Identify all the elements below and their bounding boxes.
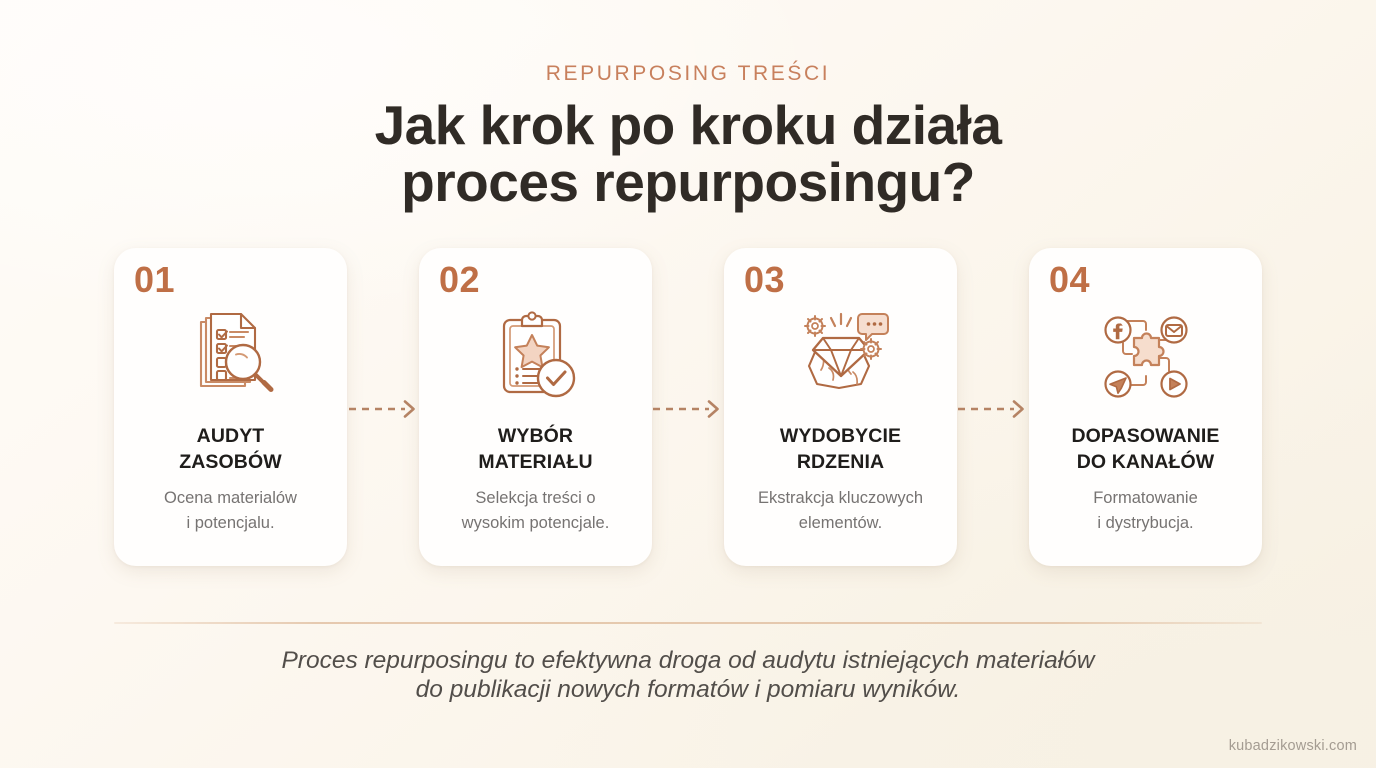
step-title-3-line2: RDZENIA	[797, 451, 884, 473]
page-title: Jak krok po kroku działa proces repurpos…	[0, 97, 1376, 211]
step-desc-2-line1: Selekcja treści o	[475, 489, 595, 507]
step-card-3[interactable]: 03	[724, 248, 957, 566]
step-desc-3-line2: elementów.	[799, 514, 882, 532]
step-desc-2: Selekcja treści o wysokim potencjale.	[427, 486, 644, 536]
arrow-step-3-to-4	[957, 398, 1029, 420]
footer-divider	[114, 622, 1262, 624]
step-number-4: 04	[1049, 262, 1090, 298]
step-title-2-line2: MATERIAŁU	[478, 451, 592, 473]
puzzle-channels-icon	[1029, 300, 1262, 412]
step-title-4-line1: DOPASOWANIE	[1071, 425, 1219, 447]
infographic-canvas: REPURPOSING TREŚCI Jak krok po kroku dzi…	[0, 0, 1376, 768]
step-desc-4-line1: Formatowanie	[1093, 489, 1198, 507]
diamond-in-rock-icon	[724, 300, 957, 412]
arrow-step-1-to-2	[348, 398, 420, 420]
step-desc-3: Ekstrakcja kluczowych elementów.	[732, 486, 949, 536]
step-desc-1-line1: Ocena materialów	[164, 489, 297, 507]
step-card-4[interactable]: 04	[1029, 248, 1262, 566]
header: REPURPOSING TREŚCI Jak krok po kroku dzi…	[0, 62, 1376, 211]
step-desc-4-line2: i dystrybucja.	[1097, 514, 1193, 532]
step-title-3-line1: WYDOBYCIE	[780, 425, 901, 447]
step-desc-3-line1: Ekstrakcja kluczowych	[758, 489, 923, 507]
step-desc-1-line2: i potencjalu.	[186, 514, 274, 532]
step-card-1[interactable]: 01	[114, 248, 347, 566]
step-title-2: WYBÓR MATERIAŁU	[429, 424, 642, 475]
step-title-2-line1: WYBÓR	[498, 425, 573, 447]
step-title-4-line2: DO KANAŁÓW	[1077, 451, 1214, 473]
step-title-1-line2: ZASOBÓW	[179, 451, 282, 473]
arrow-step-2-to-3	[652, 398, 724, 420]
step-number-1: 01	[134, 262, 175, 298]
footer-summary-line-1: Proces repurposingu to efektywna droga o…	[0, 646, 1376, 675]
headline-line-2: proces repurposingu?	[0, 154, 1376, 211]
step-title-1-line1: AUDYT	[197, 425, 265, 447]
step-number-2: 02	[439, 262, 480, 298]
document-checklist-magnifier-icon	[114, 300, 347, 412]
step-title-4: DOPASOWANIE DO KANAŁÓW	[1039, 424, 1252, 475]
step-desc-4: Formatowanie i dystrybucja.	[1037, 486, 1254, 536]
eyebrow-label: REPURPOSING TREŚCI	[0, 62, 1376, 85]
step-title-3: WYDOBYCIE RDZENIA	[734, 424, 947, 475]
step-desc-1: Ocena materialów i potencjalu.	[122, 486, 339, 536]
footer-summary-line-2: do publikacji nowych formatów i pomiaru …	[0, 675, 1376, 704]
clipboard-star-check-icon	[419, 300, 652, 412]
step-desc-2-line2: wysokim potencjale.	[462, 514, 610, 532]
step-number-3: 03	[744, 262, 785, 298]
footer-summary: Proces repurposingu to efektywna droga o…	[0, 646, 1376, 705]
step-card-2[interactable]: 02 WYBÓR MATERIAŁU	[419, 248, 652, 566]
watermark: kubadzikowski.com	[1229, 738, 1357, 754]
headline-line-1: Jak krok po kroku działa	[0, 97, 1376, 154]
step-title-1: AUDYT ZASOBÓW	[124, 424, 337, 475]
